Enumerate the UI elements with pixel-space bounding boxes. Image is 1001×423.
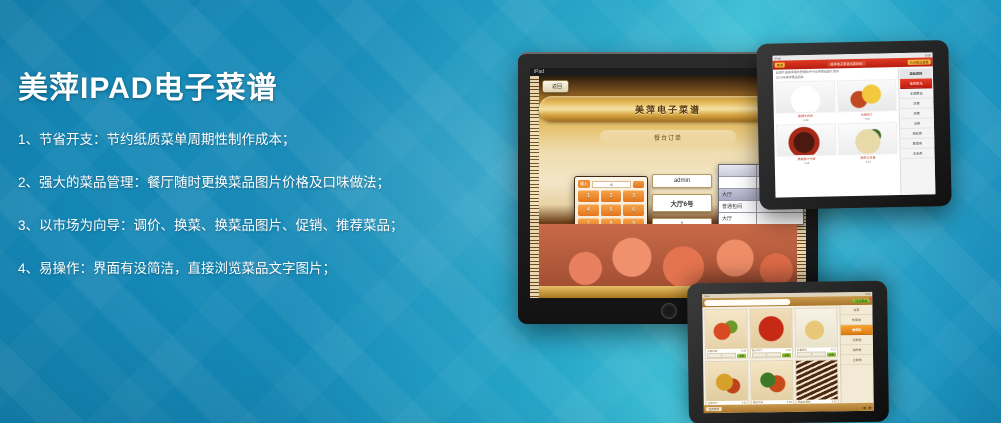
table-row[interactable]: 大厅 [719,213,803,224]
subtitle-text: 餐台订单 [654,133,682,142]
dish-price: ￥32 [838,159,898,164]
bottom-tablet-screen: iPad 9:08 已点菜品 3 尖椒鸡柳 ￥28 [702,292,874,413]
cart-button[interactable]: 已点菜品查看 [908,59,931,64]
feature-list: 1、节省开支：节约纸质菜单周期性制作成本； 2、强大的菜品管理：餐厅随时更换菜品… [18,131,448,279]
table-area [719,177,757,188]
app-title: 美萍电子菜谱 [635,103,701,116]
backspace-icon[interactable] [633,181,644,188]
quantity-stepper[interactable]: 1 [752,352,781,357]
greek-key-border-left [530,76,539,298]
dish-card[interactable]: 黑椒鲍汁牛柳 ￥48 [776,123,836,165]
dish-photo [751,361,793,401]
dish-list: 香辣牛肉卷 ￥38 彩椒肉丁 ￥26 黑椒鲍汁牛柳 ￥48 [775,79,898,166]
keypad-key[interactable]: 3 [623,190,644,202]
dish-price: ￥26 [837,116,897,121]
sidebar-item-soup[interactable]: 汤类 [901,118,933,129]
list-item: 3、以市场为向导：调价、换菜、换菜品图片、促销、推荐菜品； [18,217,448,236]
sidebar-item-vegetable[interactable]: 素菜类 [901,138,933,149]
keypad-display-label: 输入 [578,180,590,188]
dish-price: ￥38 [776,117,836,122]
dish-card[interactable]: 宫保鸡丁 ￥26 1 点菜 [705,361,749,412]
keypad-key[interactable]: 4 [578,204,599,216]
status-carrier: iPad [534,69,544,75]
cart-button[interactable]: 已点菜品 3 [852,298,870,302]
table-area: 大厅 [719,189,757,200]
cart-label: 已点菜品 [855,298,867,302]
sidebar-item-special[interactable]: 主题菜品 [900,88,932,99]
menu-button[interactable]: 菜单 [775,62,785,67]
table-name [757,213,803,224]
dish-card[interactable]: 彩椒肉丁 ￥26 [837,79,897,121]
dish-photo [796,360,838,400]
chevron-right-icon[interactable]: ▶ [869,404,872,409]
dish-photo [775,80,835,113]
dish-actions: 1 点菜 [751,352,792,358]
dish-card[interactable]: 奶香馒头 ￥12 1 点菜 [794,307,838,358]
app-title: 美萍电子菜谱点菜系统 [827,61,865,67]
keypad-key[interactable]: 5 [601,204,622,216]
subtitle-bar: 餐台订单 [600,130,736,144]
top-tablet-screen: iPad 9:08 菜单 美萍电子菜谱点菜系统 已点菜品查看 此图片由美萍餐饮管… [773,52,936,197]
promo-banner: 美萍IPAD电子菜谱 1、节省开支：节约纸质菜单周期性制作成本； 2、强大的菜品… [0,0,1001,423]
add-dish-button[interactable]: 点菜 [737,353,746,357]
keypad-display: 输入 6 [578,180,644,188]
dish-photo [705,310,747,350]
marketing-copy: 美萍IPAD电子菜谱 1、节省开支：节约纸质菜单周期性制作成本； 2、强大的菜品… [18,72,448,303]
content-body: 此图片由美萍餐饮管理软件中自带菜品图片提供 2013年美萍菜品图库 香辣牛肉卷 … [773,66,936,197]
category-sidebar[interactable]: 菜品类别 推荐菜品 主题菜品 凉菜 热菜 汤类 海鲜类 素菜类 主食类 [898,66,936,195]
sidebar-item-soup[interactable]: 汤类类 [841,335,873,345]
chevron-left-icon[interactable]: ◀ [863,404,866,409]
status-carrier: iPad [775,56,781,60]
dish-card[interactable]: 鲜虾沙拉盏 ￥32 [837,122,897,164]
keypad-key[interactable]: 6 [623,204,644,216]
dish-actions: 1 点菜 [706,353,747,359]
keypad-key[interactable]: 1 [578,190,599,202]
back-home-button[interactable]: 返回首页 [706,407,722,411]
status-carrier: iPad [704,295,709,298]
sidebar-title: 菜品类别 [900,68,932,79]
sidebar-item-seafood[interactable]: 海鲜类 [901,128,933,139]
sidebar-item-staple[interactable]: 主食类 [902,148,934,159]
dish-card[interactable]: 尖椒鸡柳 ￥28 1 点菜 [704,309,748,360]
status-time: 9:08 [925,53,931,57]
dish-card[interactable]: 青椒牛柳 ￥38 1 点菜 [750,360,794,411]
quantity-stepper[interactable]: 1 [797,351,826,356]
back-button[interactable]: 返回 [542,80,569,93]
category-sidebar[interactable]: 凉菜 热菜类 推荐菜 汤类类 海鲜类 主食类 [839,305,873,411]
sidebar-item-recommended[interactable]: 推荐菜 [841,325,873,335]
dish-photo [795,308,837,348]
dish-card[interactable]: 辣子鸡丁 ￥32 1 点菜 [749,308,793,359]
sidebar-item-hot[interactable]: 热菜 [901,108,933,119]
dish-photo [837,122,897,155]
home-button[interactable] [661,303,677,319]
page-title: 美萍IPAD电子菜谱 [18,72,448,105]
table-area [719,165,757,176]
quantity-stepper[interactable]: 1 [707,353,736,358]
footer-bar: 返回首页 ◀ ▶ [704,403,874,413]
dish-grid: 尖椒鸡柳 ￥28 1 点菜 辣子鸡丁 ￥32 [702,305,840,413]
status-time: 9:08 [865,292,870,295]
table-area: 大厅 [719,213,757,224]
sidebar-item-seafood[interactable]: 海鲜类 [841,345,873,355]
dish-card[interactable]: 黑森林蛋糕 ￥22 1 点菜 [795,359,839,410]
sidebar-item-recommended[interactable]: 推荐菜品 [900,78,932,89]
sidebar-item-cold[interactable]: 凉菜 [900,98,932,109]
dish-price: ￥48 [777,160,837,165]
cart-badge: 3 [869,296,873,299]
top-tablet-device: iPad 9:08 菜单 美萍电子菜谱点菜系统 已点菜品查看 此图片由美萍餐饮管… [756,40,951,210]
table-field[interactable]: 大厅6号 [652,194,712,212]
keypad-display-value: 6 [592,181,631,188]
dish-photo [776,123,836,156]
user-field[interactable]: admin [652,174,712,188]
pager-controls[interactable]: ◀ ▶ [863,404,872,409]
list-item: 2、强大的菜品管理：餐厅随时更换菜品图片价格及口味做法； [18,174,448,193]
content-body: 尖椒鸡柳 ￥28 1 点菜 辣子鸡丁 ￥32 [702,305,873,413]
sidebar-item-cold[interactable]: 凉菜 [840,305,872,315]
dish-photo [706,362,748,402]
dish-photo [750,309,792,349]
add-dish-button[interactable]: 点菜 [827,352,836,356]
sidebar-item-hot[interactable]: 热菜类 [840,315,872,325]
search-input[interactable] [704,298,790,305]
table-area: 普通包间 [719,201,757,212]
list-item: 1、节省开支：节约纸质菜单周期性制作成本； [18,131,448,150]
keypad-key[interactable]: 2 [601,190,622,202]
sidebar-item-staple[interactable]: 主食类 [841,355,873,365]
dish-card[interactable]: 香辣牛肉卷 ￥38 [775,80,835,122]
dish-grid: 此图片由美萍餐饮管理软件中自带菜品图片提供 2013年美萍菜品图库 香辣牛肉卷 … [773,67,901,198]
dish-photo [837,79,897,112]
dish-actions: 1 点菜 [796,351,837,357]
add-dish-button[interactable]: 点菜 [782,352,791,356]
bottom-tablet-device: iPad 9:08 已点菜品 3 尖椒鸡柳 ￥28 [687,281,889,423]
list-item: 4、易操作：界面有没简洁，直接浏览菜品文字图片； [18,260,448,279]
